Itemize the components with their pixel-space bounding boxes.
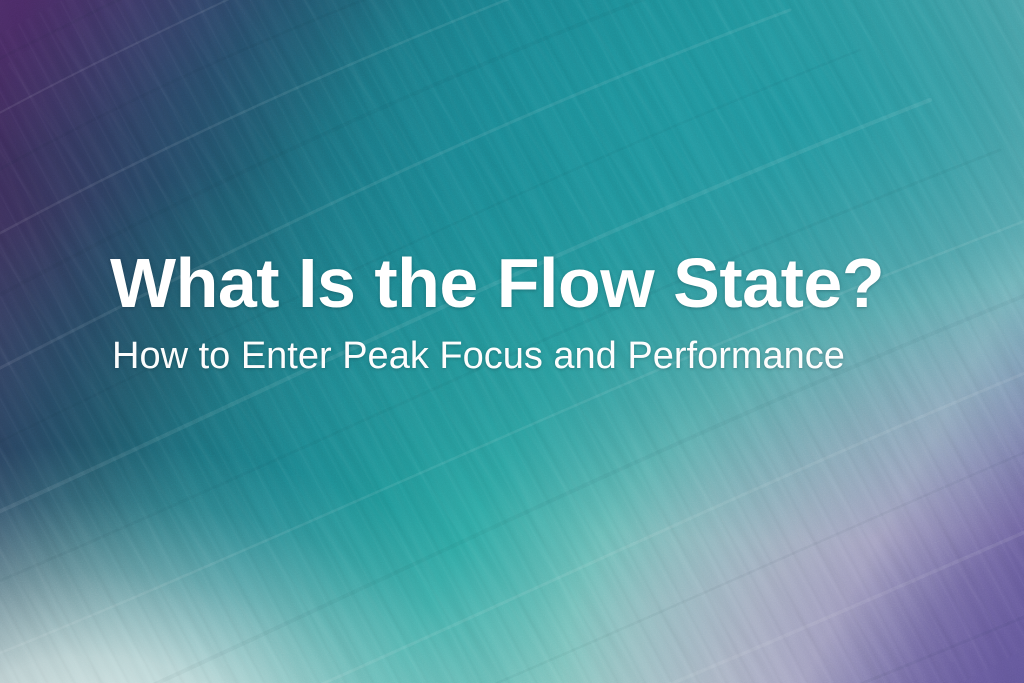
hero-text-block: What Is the Flow State? How to Enter Pea… [110,248,950,378]
hero-title: What Is the Flow State? [110,248,950,318]
hero-subtitle: How to Enter Peak Focus and Performance [112,336,950,378]
hero-banner: What Is the Flow State? How to Enter Pea… [0,0,1024,683]
